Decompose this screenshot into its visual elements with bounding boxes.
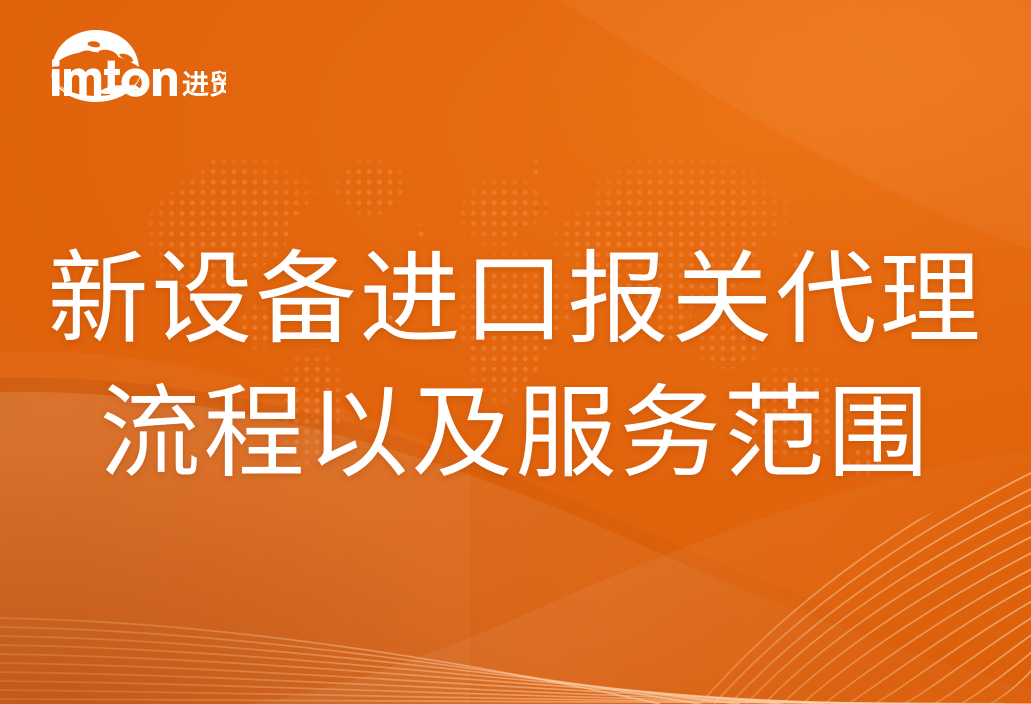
globe-map-icon: 进贸通 ® — [36, 24, 226, 108]
page-title: 新设备进口报关代理 流程以及服务范围 — [0, 232, 1031, 500]
logo-chinese-name: 进贸通 — [182, 70, 226, 101]
title-line-2: 流程以及服务范围 — [0, 366, 1031, 500]
promotional-banner: 进贸通 ® 新设备进口报关代理 流程以及服务范围 — [0, 0, 1031, 704]
title-line-1: 新设备进口报关代理 — [0, 232, 1031, 366]
brand-logo[interactable]: 进贸通 ® — [36, 24, 226, 108]
